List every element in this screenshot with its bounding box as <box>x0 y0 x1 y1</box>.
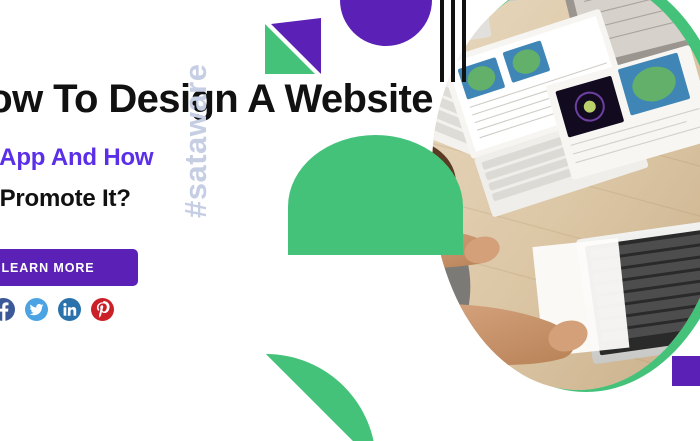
purple-square-shape <box>672 356 700 386</box>
hero-photo <box>432 0 700 390</box>
vertical-bar <box>451 0 455 82</box>
green-arc-shape <box>266 354 376 441</box>
linkedin-icon[interactable] <box>58 298 81 321</box>
social-links <box>0 298 114 321</box>
page-title: How To Design A Website <box>0 78 480 120</box>
vertical-bar <box>462 0 466 82</box>
learn-more-button[interactable]: LEARN MORE <box>0 249 138 286</box>
purple-circle-shape <box>340 0 432 46</box>
subtitle-line-2: To Promote It? <box>0 185 131 213</box>
logo-mark-icon <box>265 18 321 74</box>
brand-watermark: #sataware <box>178 18 214 218</box>
facebook-icon[interactable] <box>0 298 15 321</box>
vertical-bars-decoration <box>440 0 472 82</box>
vertical-bar <box>440 0 444 82</box>
hero-photo-image <box>432 0 700 390</box>
pinterest-icon[interactable] <box>91 298 114 321</box>
twitter-icon[interactable] <box>25 298 48 321</box>
subtitle-line-1: Or App And How <box>0 144 153 172</box>
promo-banner: How To Design A Website Or App And How T… <box>0 0 700 441</box>
